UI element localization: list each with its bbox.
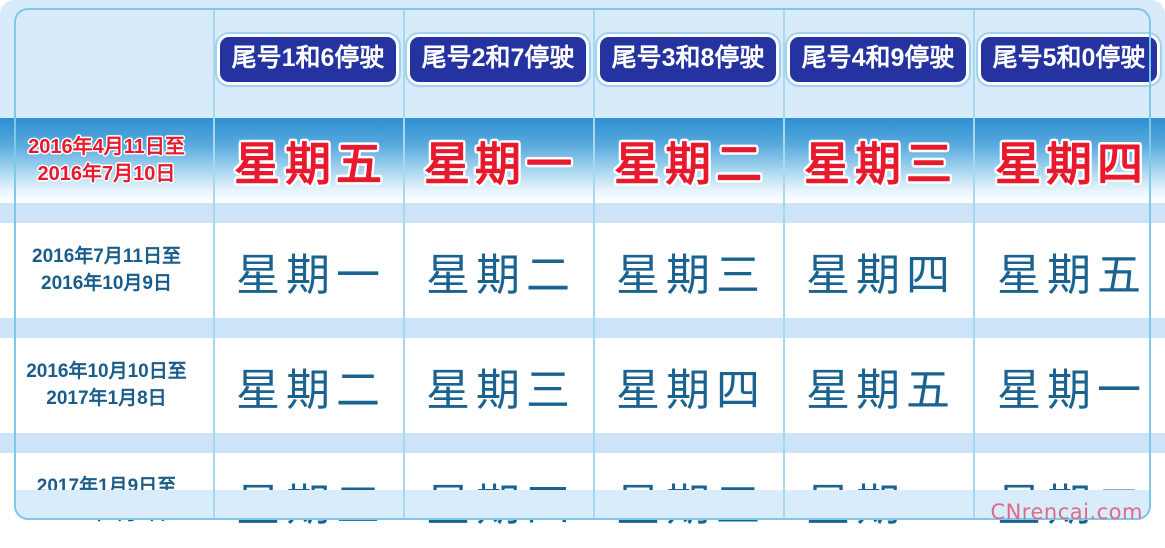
separator-band-2-d — [593, 318, 783, 338]
header-cell-3: 尾号3和8停驶 — [593, 0, 783, 118]
limit-rotation-table: 尾号1和6停驶 尾号2和7停驶 尾号3和8停驶 尾号4和9停驶 尾号5和0停驶 … — [0, 0, 1165, 528]
separator-band-3-d — [593, 433, 783, 453]
separator-band-1-e — [783, 203, 973, 223]
cell-r1-c0: 星期一 — [213, 223, 403, 318]
cell-r2-c1: 星期三 — [403, 338, 593, 433]
separator-band-3-e — [783, 433, 973, 453]
cell-r2-c3: 星期五 — [783, 338, 973, 433]
header-cell-2: 尾号2和7停驶 — [403, 0, 593, 118]
row-1-period-line2: 2016年10月9日 — [32, 271, 181, 298]
header-badge-4[interactable]: 尾号4和9停驶 — [787, 34, 970, 85]
row-2-period-line2: 2017年1月8日 — [26, 386, 187, 413]
row-0-period-line2: 2016年7月10日 — [28, 161, 185, 188]
cell-r1-c4: 星期五 — [973, 223, 1165, 318]
separator-band-2-c — [403, 318, 593, 338]
separator-band-1-f — [973, 203, 1165, 223]
header-cell-4: 尾号4和9停驶 — [783, 0, 973, 118]
cell-r2-c4: 星期一 — [973, 338, 1165, 433]
separator-band-2-b — [213, 318, 403, 338]
cell-r0-c2: 星期二 — [593, 118, 783, 203]
header-corner-cell — [0, 0, 213, 118]
separator-band-2-f — [973, 318, 1165, 338]
cell-r1-c2: 星期三 — [593, 223, 783, 318]
row-0-period: 2016年4月11日至 2016年7月10日 — [0, 118, 213, 203]
cell-r0-c1: 星期一 — [403, 118, 593, 203]
header-badge-5[interactable]: 尾号5和0停驶 — [978, 34, 1161, 85]
separator-band-1-c — [403, 203, 593, 223]
row-0-period-line1: 2016年4月11日至 — [28, 134, 185, 161]
row-2-period-line1: 2016年10月10日至 — [26, 359, 187, 386]
header-badge-2[interactable]: 尾号2和7停驶 — [407, 34, 590, 85]
separator-band-2-e — [783, 318, 973, 338]
header-badge-1[interactable]: 尾号1和6停驶 — [217, 34, 400, 85]
header-badge-3[interactable]: 尾号3和8停驶 — [597, 34, 780, 85]
cell-r0-c3: 星期三 — [783, 118, 973, 203]
header-cell-1: 尾号1和6停驶 — [213, 0, 403, 118]
row-1-period-line1: 2016年7月11日至 — [32, 244, 181, 271]
cell-r0-c0: 星期五 — [213, 118, 403, 203]
cell-r2-c0: 星期二 — [213, 338, 403, 433]
separator-band-2-a — [0, 318, 213, 338]
separator-band-1-b — [213, 203, 403, 223]
cell-r1-c3: 星期四 — [783, 223, 973, 318]
row-2-period: 2016年10月10日至 2017年1月8日 — [0, 338, 213, 433]
separator-band-3-b — [213, 433, 403, 453]
separator-band-3-a — [0, 433, 213, 453]
separator-band-1-a — [0, 203, 213, 223]
cell-r1-c1: 星期二 — [403, 223, 593, 318]
row-1-period: 2016年7月11日至 2016年10月9日 — [0, 223, 213, 318]
table-grid: 尾号1和6停驶 尾号2和7停驶 尾号3和8停驶 尾号4和9停驶 尾号5和0停驶 … — [0, 0, 1165, 528]
watermark-label: CNrencai.com — [990, 500, 1143, 524]
separator-band-1-d — [593, 203, 783, 223]
cell-r2-c2: 星期四 — [593, 338, 783, 433]
separator-band-3-c — [403, 433, 593, 453]
separator-band-3-f — [973, 433, 1165, 453]
header-cell-5: 尾号5和0停驶 — [973, 0, 1165, 118]
cell-r0-c4: 星期四 — [973, 118, 1165, 203]
footer-band — [14, 490, 1151, 520]
